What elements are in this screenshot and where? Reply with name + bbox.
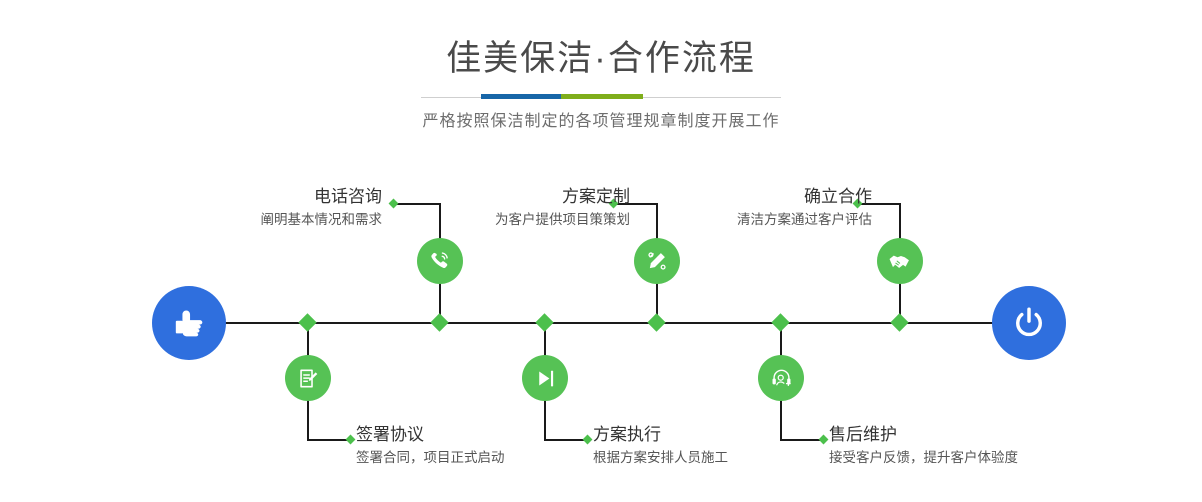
step-label-step-2: 签署协议 签署合同，项目正式启动	[356, 424, 505, 468]
timeline: 电话咨询 阐明基本情况和需求 签署协议 签署合同，项目正式启动	[0, 0, 1202, 502]
step-desc-step-3: 为客户提供项目策策划	[495, 208, 630, 230]
step-icon-step-2[interactable]	[285, 355, 331, 401]
step-icon-step-3[interactable]	[634, 238, 680, 284]
step-label-step-5: 确立合作 清洁方案通过客户评估	[737, 186, 872, 230]
step-desc-step-6: 接受客户反馈，提升客户体验度	[829, 446, 1018, 468]
axis-marker-step-6	[771, 313, 789, 331]
axis-marker-step-5	[890, 313, 908, 331]
step-icon-step-6[interactable]	[758, 355, 804, 401]
flow-start-node[interactable]	[152, 286, 226, 360]
pointing-hand-icon	[168, 302, 210, 344]
step-label-step-3: 方案定制 为客户提供项目策策划	[495, 186, 630, 230]
step-icon-step-1[interactable]	[417, 238, 463, 284]
document-edit-icon	[296, 366, 321, 391]
step-title-step-5: 确立合作	[737, 186, 872, 208]
step-title-step-1: 电话咨询	[261, 186, 383, 208]
handshake-icon	[887, 248, 914, 275]
step-desc-step-2: 签署合同，项目正式启动	[356, 446, 505, 468]
step-label-step-4: 方案执行 根据方案安排人员施工	[593, 424, 728, 468]
step-desc-step-4: 根据方案安排人员施工	[593, 446, 728, 468]
play-next-icon	[533, 366, 558, 391]
headset-support-icon	[769, 366, 794, 391]
step-label-step-6: 售后维护 接受客户反馈，提升客户体验度	[829, 424, 1018, 468]
step-title-step-4: 方案执行	[593, 424, 728, 446]
step-desc-step-5: 清洁方案通过客户评估	[737, 208, 872, 230]
pencil-design-icon	[644, 248, 670, 274]
axis-marker-step-3	[647, 313, 665, 331]
power-icon	[1009, 303, 1049, 343]
step-title-step-3: 方案定制	[495, 186, 630, 208]
label-anchor-step-1	[389, 199, 399, 209]
axis-marker-step-1	[430, 313, 448, 331]
step-desc-step-1: 阐明基本情况和需求	[261, 208, 383, 230]
step-icon-step-4[interactable]	[522, 355, 568, 401]
connector-arm-step-1	[394, 203, 439, 205]
label-anchor-step-6	[819, 435, 829, 445]
axis-marker-step-4	[535, 313, 553, 331]
step-label-step-1: 电话咨询 阐明基本情况和需求	[261, 186, 383, 230]
phone-call-icon	[427, 248, 453, 274]
label-anchor-step-4	[583, 435, 593, 445]
process-flow-infographic: 佳美保洁·合作流程 严格按照保洁制定的各项管理规章制度开展工作	[0, 0, 1202, 502]
label-anchor-step-2	[346, 435, 356, 445]
step-icon-step-5[interactable]	[877, 238, 923, 284]
step-title-step-6: 售后维护	[829, 424, 1018, 446]
flow-end-node[interactable]	[992, 286, 1066, 360]
step-title-step-2: 签署协议	[356, 424, 505, 446]
axis-marker-step-2	[298, 313, 316, 331]
